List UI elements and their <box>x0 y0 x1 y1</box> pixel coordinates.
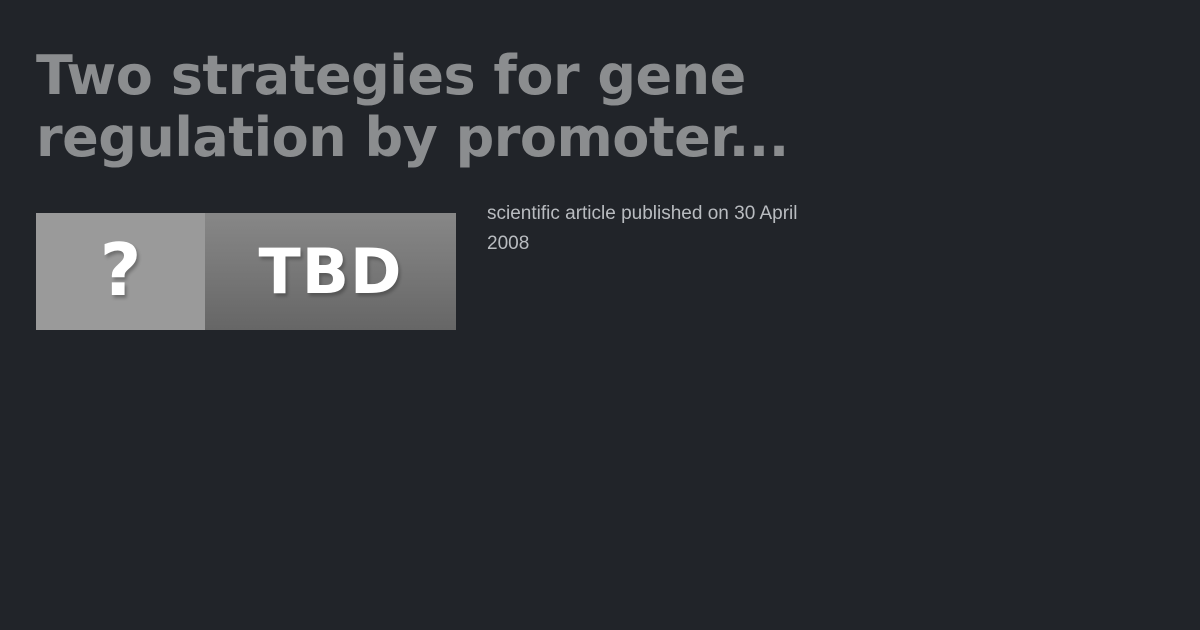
preview-body: ? TBD scientific article published on 30… <box>36 213 1164 330</box>
question-mark-icon: ? <box>100 234 142 310</box>
thumbnail-tbd-panel: TBD <box>205 213 456 330</box>
placeholder-thumbnail: ? TBD <box>36 213 456 330</box>
description-text: scientific article published on 30 April… <box>456 199 817 259</box>
tbd-label: TBD <box>258 241 402 303</box>
thumbnail-question-panel: ? <box>36 213 205 330</box>
preview-card: Two strategies for gene regulation by pr… <box>0 0 1200 630</box>
page-title: Two strategies for gene regulation by pr… <box>36 45 936 169</box>
